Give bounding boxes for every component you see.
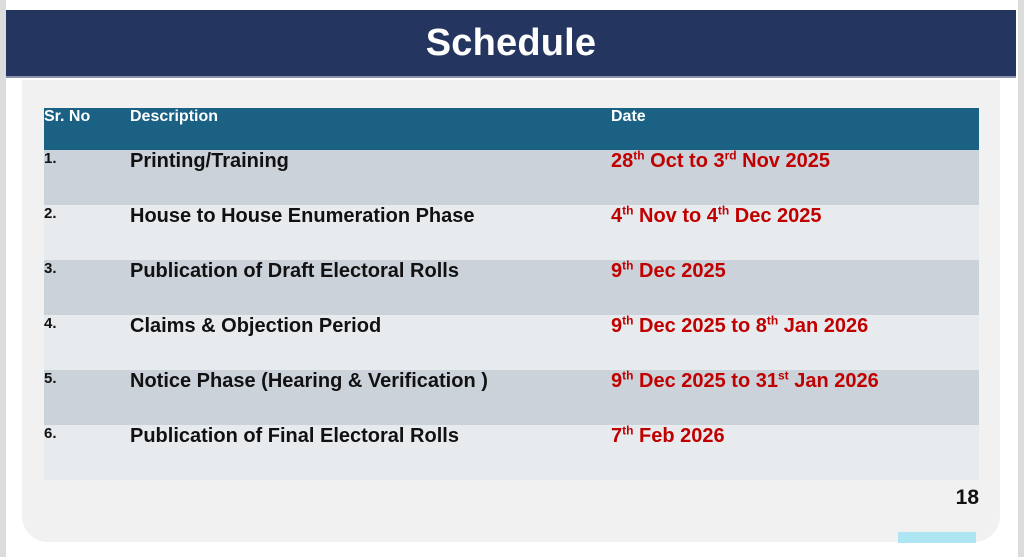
cell-sr-no: 4.	[44, 315, 130, 370]
table-row: 3.Publication of Draft Electoral Rolls9t…	[44, 260, 979, 315]
page-number: 18	[22, 486, 979, 510]
page-gutter-right	[1018, 0, 1024, 557]
cell-sr-no: 1.	[44, 150, 130, 205]
cell-date: 9th Dec 2025 to 8th Jan 2026	[611, 315, 979, 370]
cell-date: 28th Oct to 3rd Nov 2025	[611, 150, 979, 205]
table-row: 6.Publication of Final Electoral Rolls7t…	[44, 425, 979, 480]
cell-date: 9th Dec 2025 to 31st Jan 2026	[611, 370, 979, 425]
column-header-description: Description	[130, 108, 611, 150]
table-row: 4.Claims & Objection Period9th Dec 2025 …	[44, 315, 979, 370]
cell-date: 4th Nov to 4th Dec 2025	[611, 205, 979, 260]
cell-description: House to House Enumeration Phase	[130, 205, 611, 260]
table-header-row: Sr. No Description Date	[44, 108, 979, 150]
cell-description: Publication of Draft Electoral Rolls	[130, 260, 611, 315]
slide-body-panel: Sr. No Description Date 1.Printing/Train…	[22, 80, 1000, 542]
cell-description: Claims & Objection Period	[130, 315, 611, 370]
table-body: 1.Printing/Training28th Oct to 3rd Nov 2…	[44, 150, 979, 480]
page-gutter-left	[0, 0, 6, 557]
table-row: 5.Notice Phase (Hearing & Verification )…	[44, 370, 979, 425]
cell-description: Publication of Final Electoral Rolls	[130, 425, 611, 480]
cell-description: Printing/Training	[130, 150, 611, 205]
cell-sr-no: 6.	[44, 425, 130, 480]
page-title: Schedule	[426, 24, 597, 62]
cell-description: Notice Phase (Hearing & Verification )	[130, 370, 611, 425]
cell-date: 9th Dec 2025	[611, 260, 979, 315]
cell-sr-no: 5.	[44, 370, 130, 425]
scroll-indicator[interactable]	[898, 532, 976, 543]
cell-sr-no: 3.	[44, 260, 130, 315]
slide-root: Schedule Sr. No Description Date 1.Print…	[0, 0, 1024, 557]
column-header-date: Date	[611, 108, 979, 150]
schedule-table: Sr. No Description Date 1.Printing/Train…	[44, 108, 979, 480]
table-header: Sr. No Description Date	[44, 108, 979, 150]
table-row: 2.House to House Enumeration Phase4th No…	[44, 205, 979, 260]
column-header-sr-no: Sr. No	[44, 108, 130, 150]
cell-sr-no: 2.	[44, 205, 130, 260]
slide-title-banner: Schedule	[6, 10, 1016, 78]
cell-date: 7th Feb 2026	[611, 425, 979, 480]
table-row: 1.Printing/Training28th Oct to 3rd Nov 2…	[44, 150, 979, 205]
